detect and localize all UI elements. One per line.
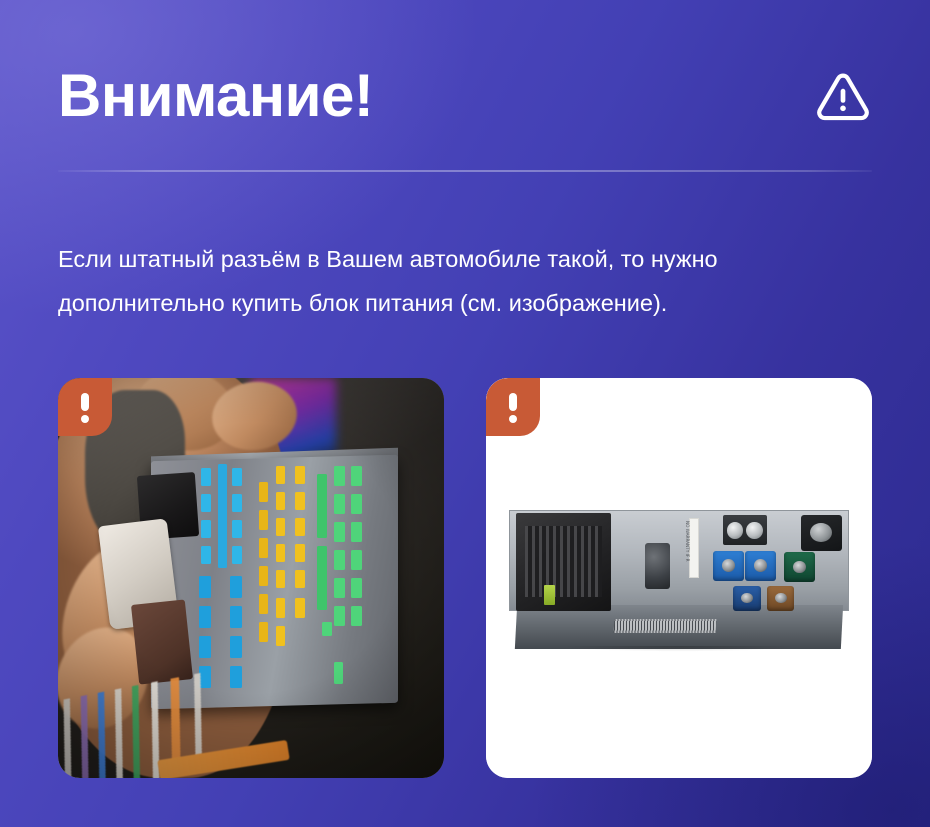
fakra-pin [754, 559, 767, 572]
fakra-blue-1 [713, 551, 744, 581]
photo-vignette [58, 378, 444, 778]
fakra-pin [741, 593, 752, 603]
screw-head [810, 523, 832, 542]
fakra-green [784, 552, 815, 582]
psu-main-connector [516, 513, 611, 611]
power-supply-image: NO WARRANTY IF R [486, 378, 872, 778]
exclamation-stem [509, 393, 517, 411]
fakra-pin [722, 559, 735, 572]
fakra-pin [793, 561, 806, 574]
exclamation-dot [509, 415, 517, 423]
rca-jack [746, 522, 763, 539]
notice-text-line-2: дополнительно купить блок питания (см. и… [58, 281, 872, 325]
image-gallery: NO WARRANTY IF R [58, 378, 872, 778]
notice-page: Внимание! Если штатный разъём в Вашем ав… [0, 0, 930, 827]
fakra-brown [767, 586, 794, 610]
exclamation-stem [81, 393, 89, 411]
notice-text: Если штатный разъём в Вашем автомобиле т… [58, 237, 872, 325]
psu-drop-shadow [523, 646, 835, 658]
psu-round-port [645, 543, 670, 589]
rca-jack [727, 522, 744, 539]
notice-text-line-1: Если штатный разъём в Вашем автомобиле т… [58, 246, 718, 272]
power-supply-unit: NO WARRANTY IF R [509, 510, 849, 646]
exclamation-dot [81, 415, 89, 423]
header: Внимание! [58, 48, 872, 143]
oem-connector-image [58, 378, 444, 778]
header-divider [58, 170, 872, 172]
attention-badge-icon [58, 378, 112, 436]
attention-badge-icon [486, 378, 540, 436]
fakra-blue-2 [745, 551, 776, 581]
psu-rca-pair [723, 515, 767, 545]
psu-green-keying-tab [544, 585, 554, 605]
card-power-supply[interactable]: NO WARRANTY IF R [486, 378, 872, 778]
card-oem-connector[interactable] [58, 378, 444, 778]
psu-warranty-label-text: NO WARRANTY IF R [685, 521, 690, 562]
page-title: Внимание! [58, 66, 373, 126]
warning-triangle-icon [814, 67, 872, 125]
fakra-pin [775, 593, 786, 603]
psu-screw-post [801, 515, 842, 550]
psu-barcode-label [614, 619, 717, 633]
psu-pin-grid [525, 526, 601, 596]
fakra-darkblue [733, 586, 760, 610]
psu-warranty-label [689, 518, 699, 578]
